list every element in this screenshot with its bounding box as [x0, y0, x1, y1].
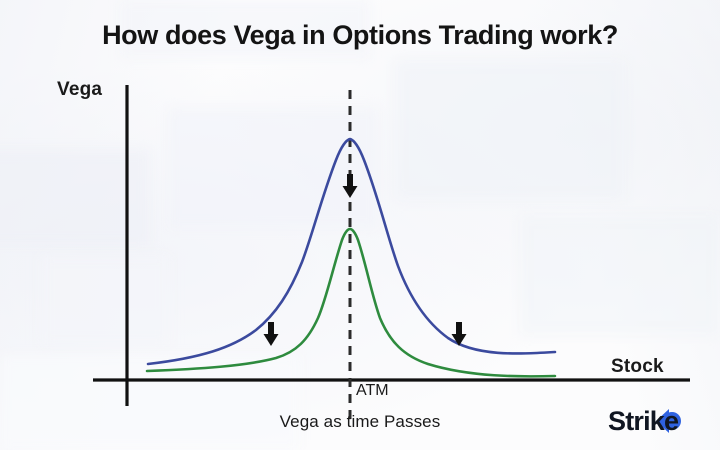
atm-marker-label: ATM: [356, 382, 389, 400]
down-arrow-icon-peak: [343, 174, 358, 198]
brand-name: Strike: [608, 408, 678, 435]
chart-canvas: How does Vega in Options Trading work?: [0, 0, 720, 450]
down-arrow-icon-left-wing: [264, 322, 279, 346]
y-axis-label: Vega: [57, 79, 102, 101]
brand-logo[interactable]: Strike: [608, 404, 678, 438]
x-axis-label: Stock: [611, 356, 664, 378]
